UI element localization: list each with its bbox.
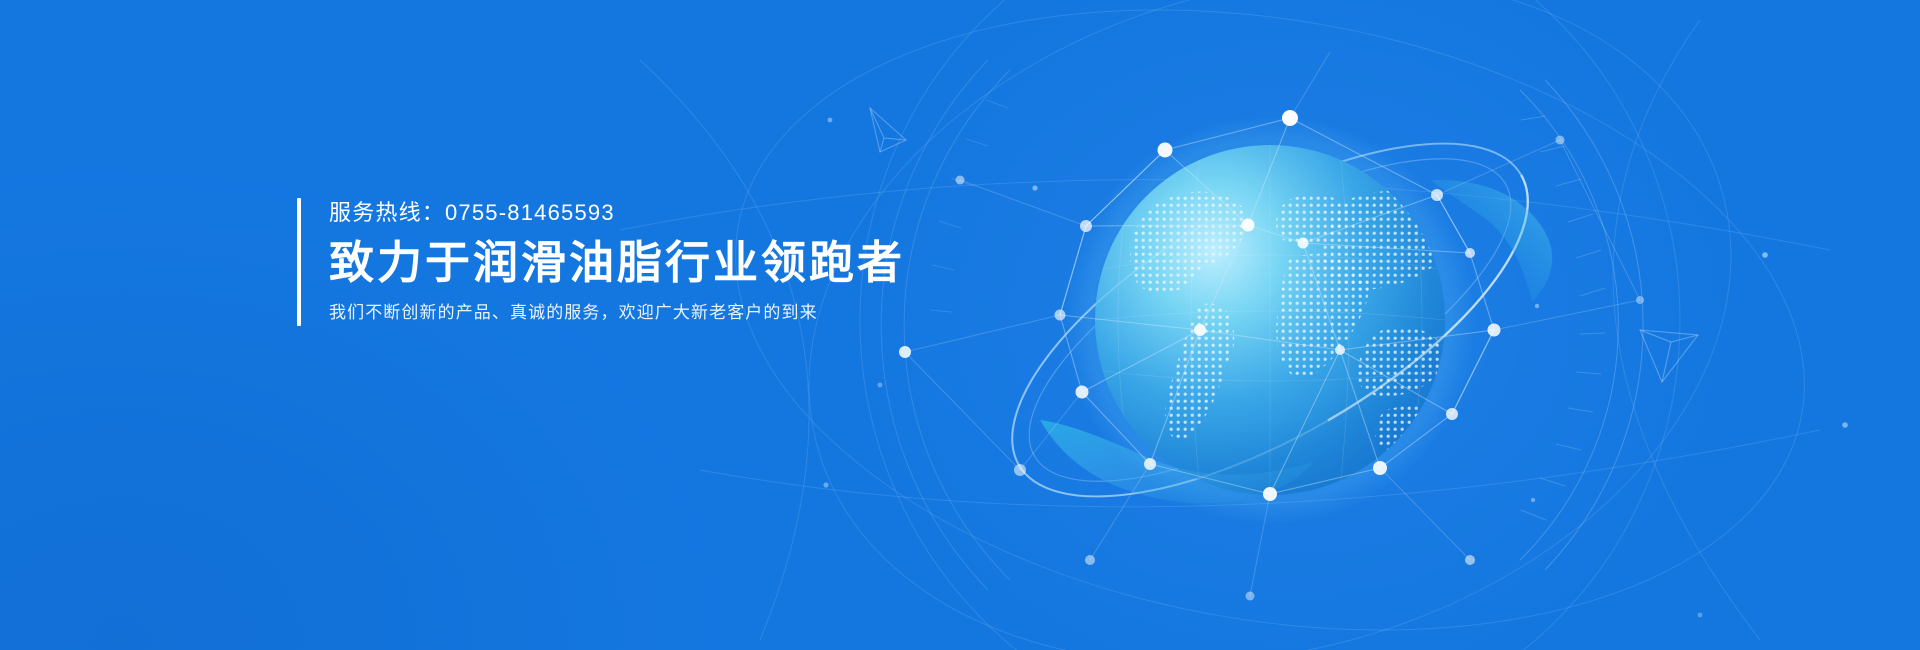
banner-text-block: 服务热线：0755-81465593 致力于润滑油脂行业领跑者 我们不断创新的产…	[297, 198, 905, 326]
hero-banner: 服务热线：0755-81465593 致力于润滑油脂行业领跑者 我们不断创新的产…	[0, 0, 1920, 650]
service-hotline: 服务热线：0755-81465593	[329, 200, 905, 226]
background-glow	[0, 0, 1920, 650]
banner-subtitle: 我们不断创新的产品、真诚的服务，欢迎广大新老客户的到来	[329, 302, 905, 324]
banner-text-lines: 服务热线：0755-81465593 致力于润滑油脂行业领跑者 我们不断创新的产…	[301, 198, 905, 326]
banner-headline: 致力于润滑油脂行业领跑者	[329, 237, 905, 289]
globe-network-illustration	[0, 0, 1920, 650]
